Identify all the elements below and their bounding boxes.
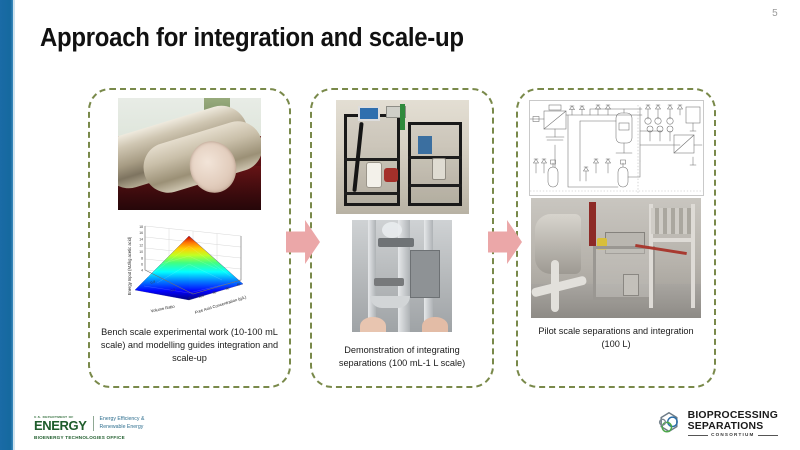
consortium-line-1: BIOPROCESSING	[688, 410, 778, 421]
svg-text:8: 8	[141, 256, 143, 260]
process-flow-diagram	[529, 100, 704, 196]
process-flow-stage: 18 16 14 12 10 8 6 4 0.4 0.2	[88, 88, 716, 388]
consortium-rule-left	[688, 435, 708, 436]
eere-line-1: Energy Efficiency &	[100, 416, 145, 424]
panel-demonstration-scale[interactable]: Demonstration of integrating separations…	[310, 88, 494, 388]
panel-demonstration-scale-caption: Demonstration of integrating separations…	[312, 344, 492, 370]
hexagon-circles-icon	[656, 411, 682, 437]
page-number: 5	[772, 8, 778, 19]
lab-rack-apparatus-photo	[336, 100, 469, 214]
doe-energy-wordmark: ENERGY	[34, 419, 87, 432]
left-accent-bar	[0, 0, 13, 450]
panel-bench-scale-caption: Bench scale experimental work (10-100 mL…	[90, 326, 289, 365]
panel-pilot-scale[interactable]: Pilot scale separations and integration …	[516, 88, 716, 388]
surface-plot-zlabel: Energy Input (MJ/kg acetic acid)	[127, 236, 132, 295]
panel-bench-scale[interactable]: 18 16 14 12 10 8 6 4 0.4 0.2	[88, 88, 291, 388]
svg-text:10: 10	[139, 250, 143, 254]
left-accent-bar-edge	[13, 0, 15, 450]
svg-text:6: 6	[141, 263, 143, 267]
page-title: Approach for integration and scale-up	[40, 24, 464, 53]
panel-bench-scale-media: 18 16 14 12 10 8 6 4 0.4 0.2	[90, 90, 289, 316]
pilot-plant-skid-photo	[531, 198, 701, 318]
ceramic-membrane-tube-photo	[118, 98, 261, 210]
panel-demonstration-scale-media	[312, 90, 492, 332]
doe-logo: U.S. DEPARTMENT OF ENERGY Energy Efficie…	[34, 416, 144, 440]
svg-text:4: 4	[141, 268, 143, 272]
svg-text:14: 14	[139, 237, 143, 241]
energy-input-surface-plot: 18 16 14 12 10 8 6 4 0.4 0.2	[117, 214, 262, 316]
consortium-line-3: CONSORTIUM	[708, 433, 757, 438]
svg-text:18: 18	[139, 225, 143, 229]
panel-pilot-scale-media	[518, 90, 714, 318]
doe-logo-divider	[93, 416, 94, 431]
svg-text:12: 12	[139, 244, 143, 248]
consortium-rule-right	[758, 435, 778, 436]
bioprocessing-separations-consortium-logo: BIOPROCESSING SEPARATIONS CONSORTIUM	[656, 410, 778, 438]
bioenergy-technologies-office-label: BIOENERGY TECHNOLOGIES OFFICE	[34, 435, 144, 440]
eere-line-2: Renewable Energy	[100, 424, 145, 432]
consortium-line-2: SEPARATIONS	[688, 421, 778, 432]
svg-text:16: 16	[139, 231, 143, 235]
panel-pilot-scale-caption: Pilot scale separations and integration …	[518, 325, 714, 351]
glassware-separation-column-photo	[352, 220, 452, 332]
slide: 5 Approach for integration and scale-up	[0, 0, 800, 450]
